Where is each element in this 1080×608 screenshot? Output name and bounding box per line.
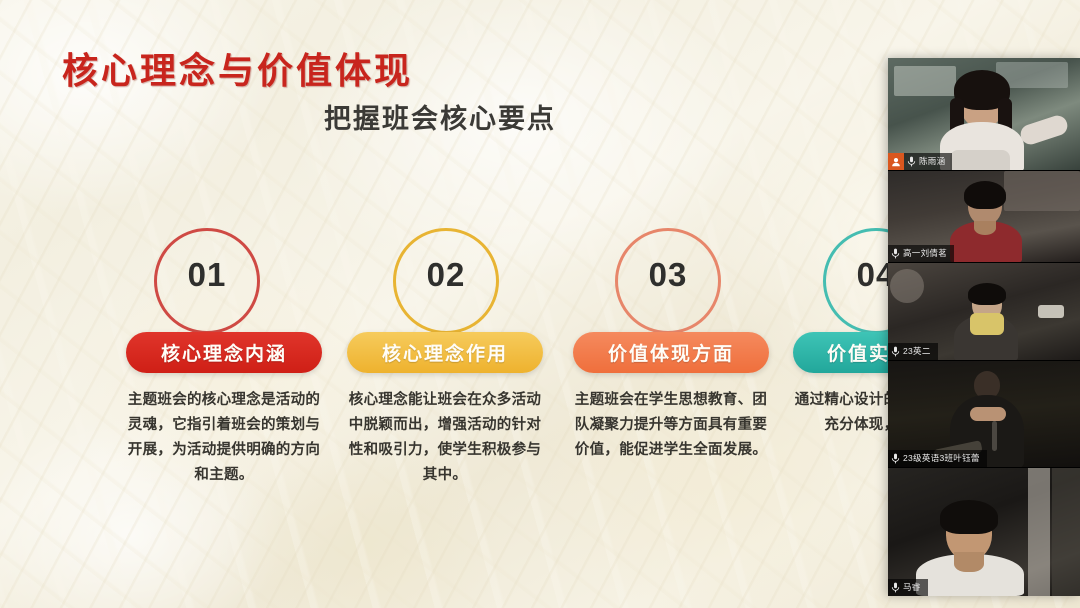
video-participant-panel[interactable]: 陈雨涵 高一刘倩茗 [888, 58, 1080, 596]
participant-name: 马睿 [903, 579, 921, 596]
card-number-01: 01 [154, 256, 260, 294]
card-label-03[interactable]: 价值体现方面 [573, 332, 769, 373]
participant-name: 23级英语3班叶钰蕾 [903, 450, 980, 467]
participant-nameplate: 23级英语3班叶钰蕾 [888, 450, 987, 467]
video-tile[interactable]: 陈雨涵 [888, 58, 1080, 171]
mic-icon [888, 346, 903, 357]
card-body-03: 主题班会在学生思想教育、团队凝聚力提升等方面具有重要价值，能促进学生全面发展。 [573, 388, 769, 463]
host-icon [888, 153, 904, 170]
card-number-02: 02 [393, 256, 499, 294]
participant-name: 23英二 [903, 343, 931, 360]
card-label-01[interactable]: 核心理念内涵 [126, 332, 322, 373]
video-tile[interactable]: 23级英语3班叶钰蕾 [888, 361, 1080, 468]
participant-nameplate: 马睿 [888, 579, 928, 596]
participant-name: 陈雨涵 [919, 153, 945, 170]
card-number-03: 03 [615, 256, 721, 294]
video-tile[interactable]: 高一刘倩茗 [888, 171, 1080, 263]
slide-title: 核心理念与价值体现 [62, 42, 413, 94]
participant-name: 高一刘倩茗 [903, 245, 947, 262]
video-tile[interactable]: 马睿 [888, 468, 1080, 596]
participant-nameplate: 23英二 [888, 343, 938, 360]
participant-nameplate: 高一刘倩茗 [888, 245, 954, 262]
card-label-02[interactable]: 核心理念作用 [347, 332, 543, 373]
mic-icon [888, 453, 903, 464]
video-feed [888, 468, 1080, 596]
mic-icon [888, 582, 903, 593]
card-body-02: 核心理念能让班会在众多活动中脱颖而出，增强活动的针对性和吸引力，使学生积极参与其… [347, 388, 543, 488]
mic-icon [904, 156, 919, 167]
participant-nameplate: 陈雨涵 [888, 153, 952, 170]
video-tile[interactable]: 23英二 [888, 263, 1080, 361]
slide-canvas: 核心理念与价值体现 把握班会核心要点 01 核心理念内涵 主题班会的核心理念是活… [0, 0, 1080, 608]
card-body-01: 主题班会的核心理念是活动的灵魂，它指引着班会的策划与开展，为活动提供明确的方向和… [126, 388, 322, 488]
mic-icon [888, 248, 903, 259]
